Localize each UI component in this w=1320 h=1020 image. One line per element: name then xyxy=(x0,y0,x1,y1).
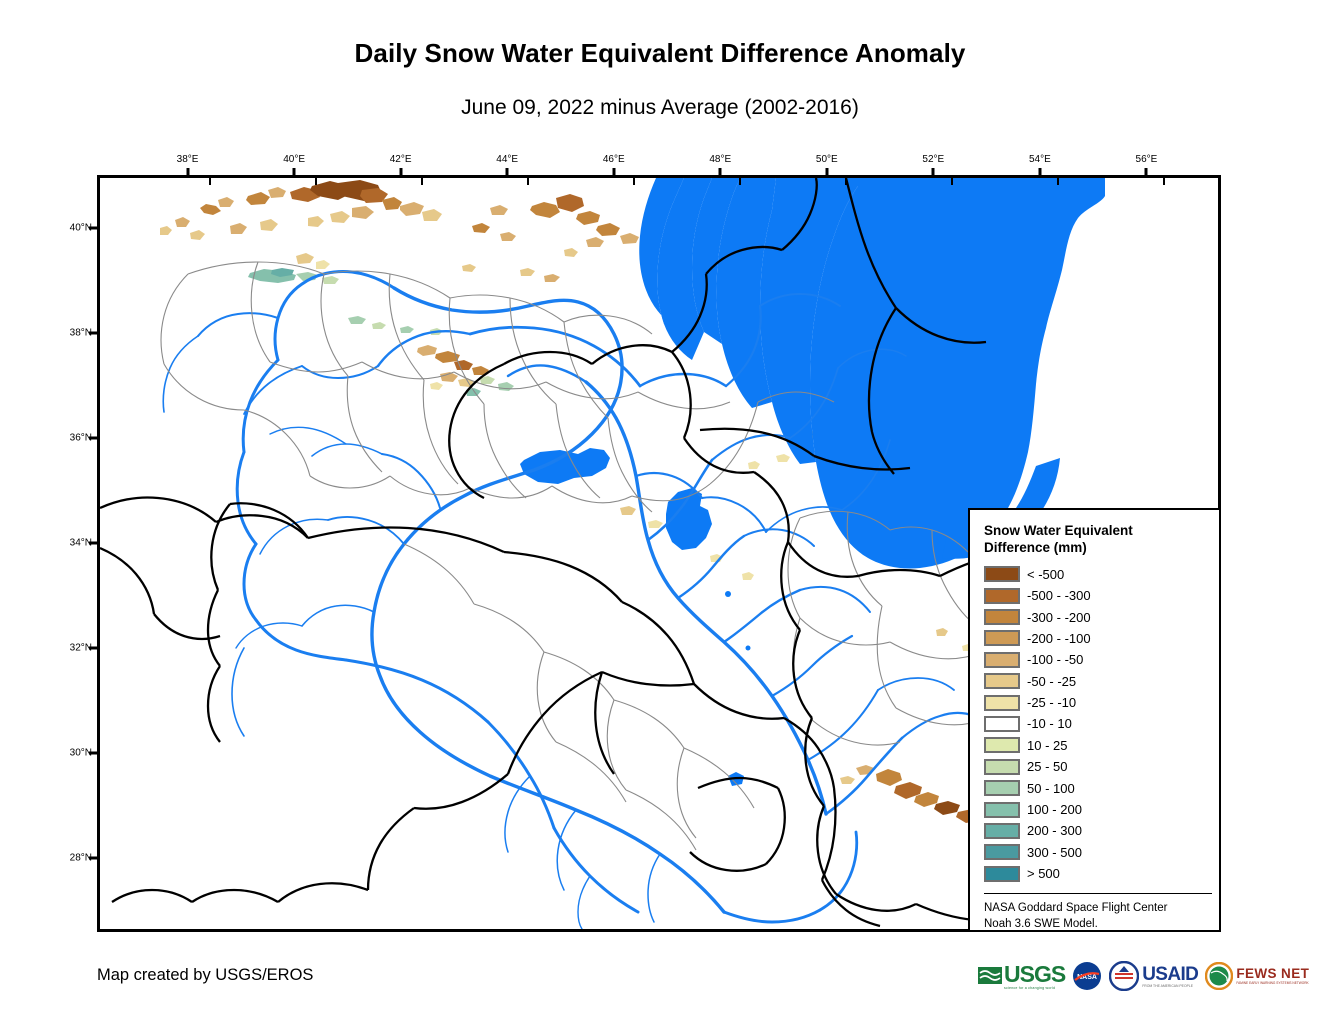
legend-row: 200 - 300 xyxy=(984,820,1219,841)
lon-tick-label: 38°E xyxy=(177,154,199,165)
lon-tick-label: 50°E xyxy=(816,154,838,165)
legend-label: -300 - -200 xyxy=(1027,610,1091,625)
lon-tick-label: 44°E xyxy=(496,154,518,165)
legend-swatch xyxy=(984,866,1020,882)
lon-tick-label: 46°E xyxy=(603,154,625,165)
usgs-logo[interactable]: USGS science for a changing world xyxy=(978,959,1065,993)
legend-swatch xyxy=(984,566,1020,582)
nasa-logo[interactable]: NASA xyxy=(1072,959,1102,993)
legend-row: -25 - -10 xyxy=(984,692,1219,713)
legend-swatch xyxy=(984,695,1020,711)
legend-row: < -500 xyxy=(984,564,1219,585)
lat-tick-mark xyxy=(89,331,97,334)
legend-row: -50 - -25 xyxy=(984,670,1219,691)
page-title: Daily Snow Water Equivalent Difference A… xyxy=(0,38,1320,69)
legend-row: -10 - 10 xyxy=(984,713,1219,734)
agency-logos: USGS science for a changing world NASA U… xyxy=(978,955,1309,997)
legend-title: Snow Water Equivalent Difference (mm) xyxy=(984,522,1199,557)
legend-source: NASA Goddard Space Flight Center Noah 3.… xyxy=(984,893,1212,933)
legend-swatch xyxy=(984,609,1020,625)
legend-row: -300 - -200 xyxy=(984,606,1219,627)
map-credit: Map created by USGS/EROS xyxy=(97,966,313,985)
legend-label: 200 - 300 xyxy=(1027,823,1082,838)
lat-tick-label: 40°N xyxy=(52,222,92,233)
legend-swatch xyxy=(984,802,1020,818)
legend-swatch xyxy=(984,652,1020,668)
legend-swatch xyxy=(984,630,1020,646)
legend-label: -50 - -25 xyxy=(1027,674,1076,689)
legend-label: < -500 xyxy=(1027,567,1064,582)
legend-swatch xyxy=(984,759,1020,775)
nasa-meatball-icon: NASA xyxy=(1072,961,1102,991)
legend-row: 50 - 100 xyxy=(984,777,1219,798)
legend-swatch xyxy=(984,780,1020,796)
page-subtitle: June 09, 2022 minus Average (2002-2016) xyxy=(0,96,1320,120)
map-legend: Snow Water Equivalent Difference (mm) < … xyxy=(968,508,1221,932)
usaid-label: USAID xyxy=(1142,965,1198,984)
lat-tick-mark xyxy=(89,752,97,755)
lat-tick-mark xyxy=(89,541,97,544)
legend-swatch xyxy=(984,737,1020,753)
legend-row: 25 - 50 xyxy=(984,756,1219,777)
lon-tick-label: 52°E xyxy=(922,154,944,165)
lat-tick-label: 30°N xyxy=(52,748,92,759)
legend-source-line2: Noah 3.6 SWE Model. xyxy=(984,917,1212,933)
lat-tick-label: 36°N xyxy=(52,432,92,443)
legend-label: 100 - 200 xyxy=(1027,802,1082,817)
lon-tick-label: 54°E xyxy=(1029,154,1051,165)
usaid-seal-icon xyxy=(1109,961,1139,991)
lat-tick-mark xyxy=(89,857,97,860)
legend-swatch xyxy=(984,844,1020,860)
legend-row: -500 - -300 xyxy=(984,585,1219,606)
legend-label: -100 - -50 xyxy=(1027,652,1083,667)
legend-label: -25 - -10 xyxy=(1027,695,1076,710)
lon-tick-label: 48°E xyxy=(709,154,731,165)
lat-tick-mark xyxy=(89,436,97,439)
lon-tick-label: 40°E xyxy=(283,154,305,165)
lat-tick-label: 38°N xyxy=(52,327,92,338)
fews-logo[interactable]: FEWS NET FAMINE EARLY WARNING SYSTEMS NE… xyxy=(1205,959,1309,993)
usaid-logo[interactable]: USAID FROM THE AMERICAN PEOPLE xyxy=(1109,959,1198,993)
legend-row: 100 - 200 xyxy=(984,799,1219,820)
fews-tagline: FAMINE EARLY WARNING SYSTEMS NETWORK xyxy=(1236,981,1309,985)
legend-row: -100 - -50 xyxy=(984,649,1219,670)
legend-label: 10 - 25 xyxy=(1027,738,1067,753)
legend-label: -10 - 10 xyxy=(1027,716,1072,731)
legend-label: > 500 xyxy=(1027,866,1060,881)
legend-swatch xyxy=(984,673,1020,689)
lat-tick-label: 28°N xyxy=(52,853,92,864)
legend-label: 25 - 50 xyxy=(1027,759,1067,774)
legend-label: -200 - -100 xyxy=(1027,631,1091,646)
legend-entries: < -500-500 - -300-300 - -200-200 - -100-… xyxy=(984,564,1219,885)
lat-tick-label: 34°N xyxy=(52,537,92,548)
legend-row: 10 - 25 xyxy=(984,735,1219,756)
fews-globe-icon xyxy=(1205,962,1233,990)
legend-swatch xyxy=(984,588,1020,604)
legend-row: 300 - 500 xyxy=(984,842,1219,863)
lat-tick-mark xyxy=(89,226,97,229)
legend-row: > 500 xyxy=(984,863,1219,884)
lat-tick-label: 32°N xyxy=(52,643,92,654)
legend-swatch xyxy=(984,823,1020,839)
usaid-tagline: FROM THE AMERICAN PEOPLE xyxy=(1142,984,1198,988)
legend-source-line1: NASA Goddard Space Flight Center xyxy=(984,901,1212,917)
usgs-wave-icon xyxy=(978,965,1002,987)
legend-row: -200 - -100 xyxy=(984,628,1219,649)
lon-tick-label: 56°E xyxy=(1136,154,1158,165)
usgs-label: USGS xyxy=(1004,963,1065,986)
lat-tick-mark xyxy=(89,647,97,650)
legend-swatch xyxy=(984,716,1020,732)
fews-label: FEWS NET xyxy=(1236,967,1309,981)
legend-label: 300 - 500 xyxy=(1027,845,1082,860)
legend-label: -500 - -300 xyxy=(1027,588,1091,603)
legend-label: 50 - 100 xyxy=(1027,781,1075,796)
lon-tick-label: 42°E xyxy=(390,154,412,165)
